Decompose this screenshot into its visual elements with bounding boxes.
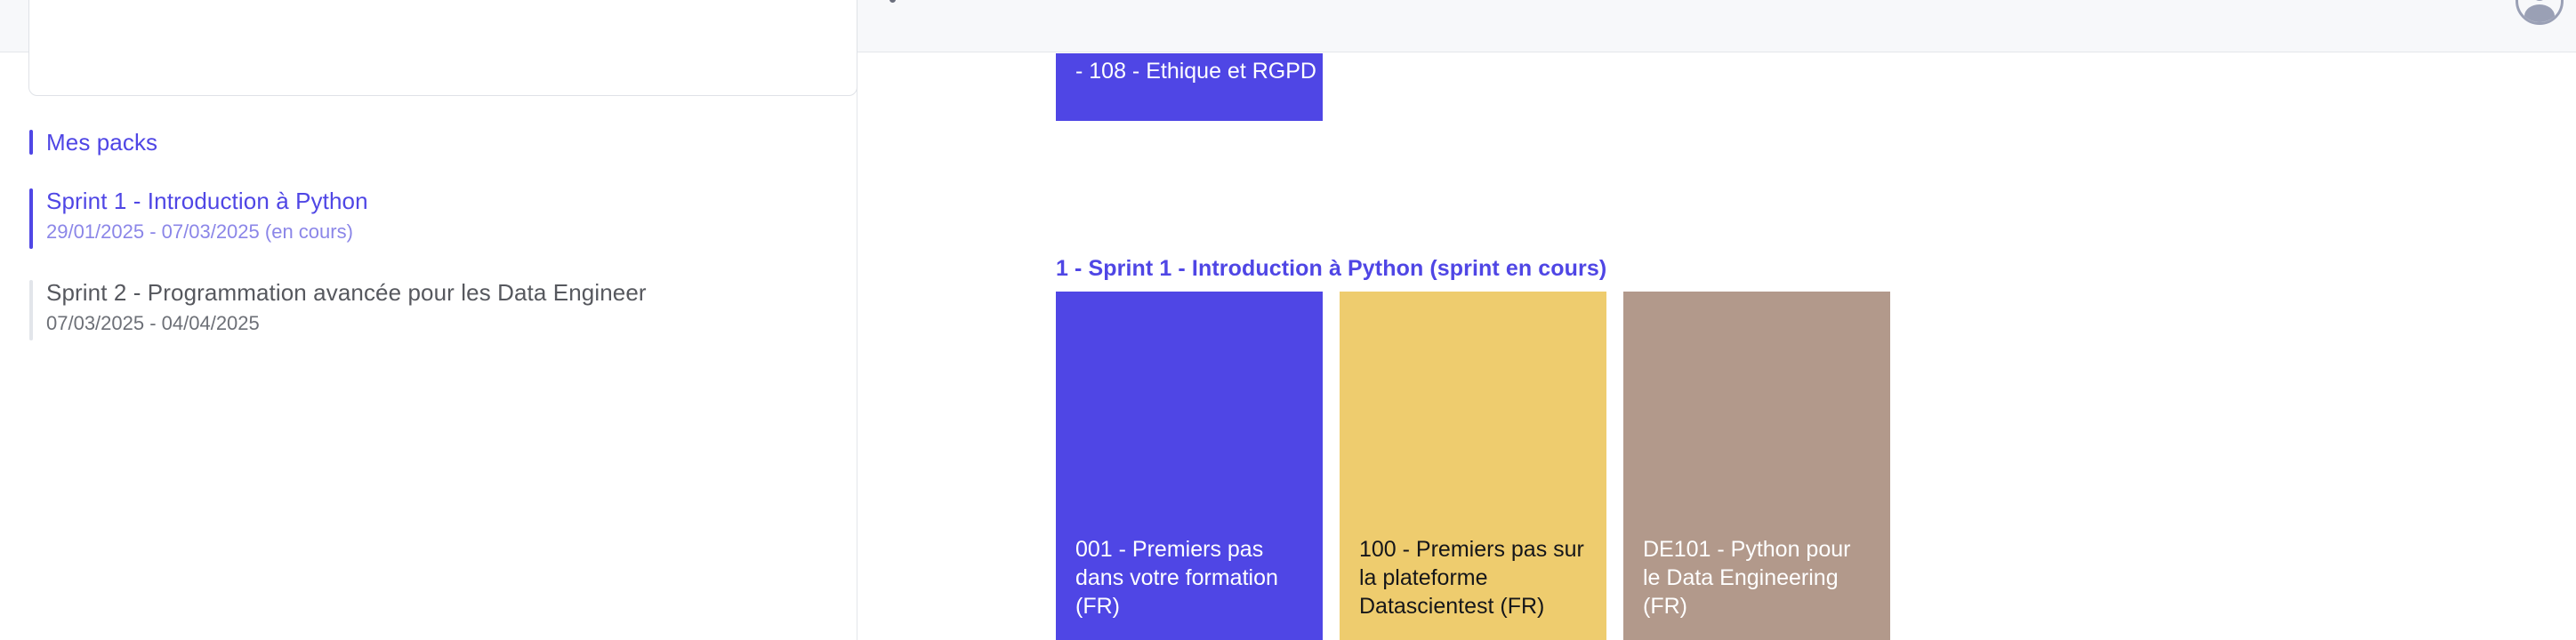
course-card-de101[interactable]: DE101 - Python pour le Data Engineering … (1623, 292, 1890, 640)
course-card-title: - 108 - Ethique et RGPD (FR) (1075, 57, 1367, 85)
course-card-108[interactable]: - 108 - Ethique et RGPD (FR) (1056, 53, 1323, 121)
sidebar-item-sprint-1[interactable]: Sprint 1 - Introduction à Python 29/01/2… (0, 188, 857, 245)
sidebar-nav-list: Mes packs Sprint 1 - Introduction à Pyth… (0, 129, 857, 371)
active-indicator-bar (29, 130, 33, 155)
sprint-section-title: 1 - Sprint 1 - Introduction à Python (sp… (1056, 256, 1606, 282)
sidebar-item-title: Sprint 1 - Introduction à Python (46, 188, 857, 214)
sidebar-item-dates: 29/01/2025 - 07/03/2025 (en cours) (46, 219, 857, 245)
sidebar-item-sprint-2[interactable]: Sprint 2 - Programmation avancée pour le… (0, 279, 857, 337)
inactive-indicator-bar (29, 280, 33, 340)
user-avatar-icon[interactable] (2516, 0, 2564, 25)
course-card-title: 100 - Premiers pas sur la plateforme Dat… (1359, 535, 1587, 620)
course-card-title: DE101 - Python pour le Data Engineering … (1643, 535, 1871, 620)
sidebar-item-dates: 07/03/2025 - 04/04/2025 (46, 310, 857, 337)
course-card-001[interactable]: 001 - Premiers pas dans votre formation … (1056, 292, 1323, 640)
sidebar: Mes packs Sprint 1 - Introduction à Pyth… (0, 53, 857, 640)
course-card-row: 001 - Premiers pas dans votre formation … (1056, 292, 2576, 640)
main-content: - 108 - Ethique et RGPD (FR) 1 - Sprint … (858, 53, 2576, 640)
menu-dot-icon[interactable] (890, 0, 896, 3)
active-indicator-bar (29, 188, 33, 249)
sidebar-section-label: Mes packs (46, 129, 857, 156)
avatar-head (2532, 0, 2547, 1)
course-card-100[interactable]: 100 - Premiers pas sur la plateforme Dat… (1340, 292, 1606, 640)
course-card-title: 001 - Premiers pas dans votre formation … (1075, 535, 1303, 620)
sidebar-panel-card (28, 0, 857, 96)
avatar-body (2524, 4, 2555, 25)
sidebar-item-title: Sprint 2 - Programmation avancée pour le… (46, 279, 857, 306)
sidebar-item-mes-packs[interactable]: Mes packs (0, 129, 857, 156)
